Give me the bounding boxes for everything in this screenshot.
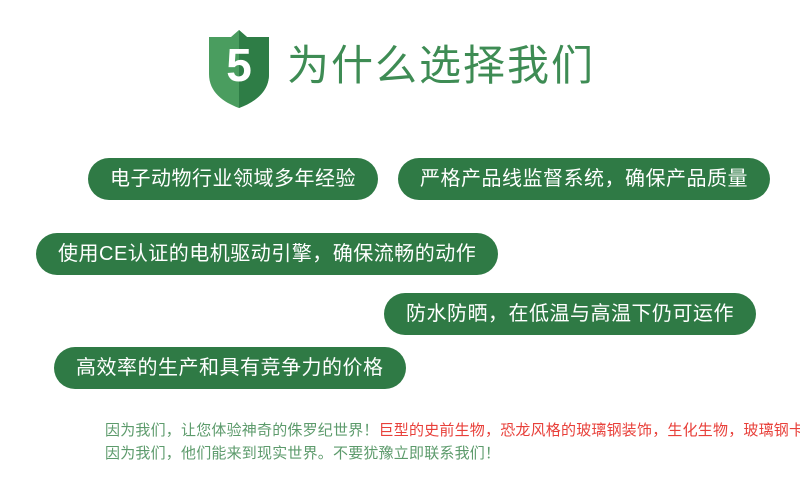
footer-line-1: 因为我们，让您体验神奇的侏罗纪世界！巨型的史前生物，恐龙风格的玻璃钢装饰，生化生… <box>105 419 765 442</box>
feature-pill-pricing[interactable]: 高效率的生产和具有竞争力的价格 <box>54 347 406 389</box>
feature-pill-weatherproof[interactable]: 防水防晒，在低温与高温下仍可运作 <box>384 293 756 335</box>
feature-pill-quality[interactable]: 严格产品线监督系统，确保产品质量 <box>398 158 770 200</box>
footer-line-2: 因为我们，他们能来到现实世界。不要犹豫立即联系我们！ <box>105 442 765 465</box>
page-title: 为什么选择我们 <box>287 45 595 93</box>
feature-pill-ce-motor[interactable]: 使用CE认证的电机驱动引擎，确保流畅的动作 <box>36 233 498 275</box>
shield-badge: 5 <box>205 28 273 110</box>
footer-line-1-red: 巨型的史前生物，恐龙风格的玻璃钢装饰，生化生物，玻璃钢卡通人物 <box>379 422 800 439</box>
feature-pill-experience[interactable]: 电子动物行业领域多年经验 <box>88 158 378 200</box>
badge-number: 5 <box>205 28 273 110</box>
footer-text: 因为我们，让您体验神奇的侏罗纪世界！巨型的史前生物，恐龙风格的玻璃钢装饰，生化生… <box>105 419 765 465</box>
page-header: 5 为什么选择我们 <box>0 26 800 112</box>
footer-line-1-green: 因为我们，让您体验神奇的侏罗纪世界！ <box>105 422 379 439</box>
